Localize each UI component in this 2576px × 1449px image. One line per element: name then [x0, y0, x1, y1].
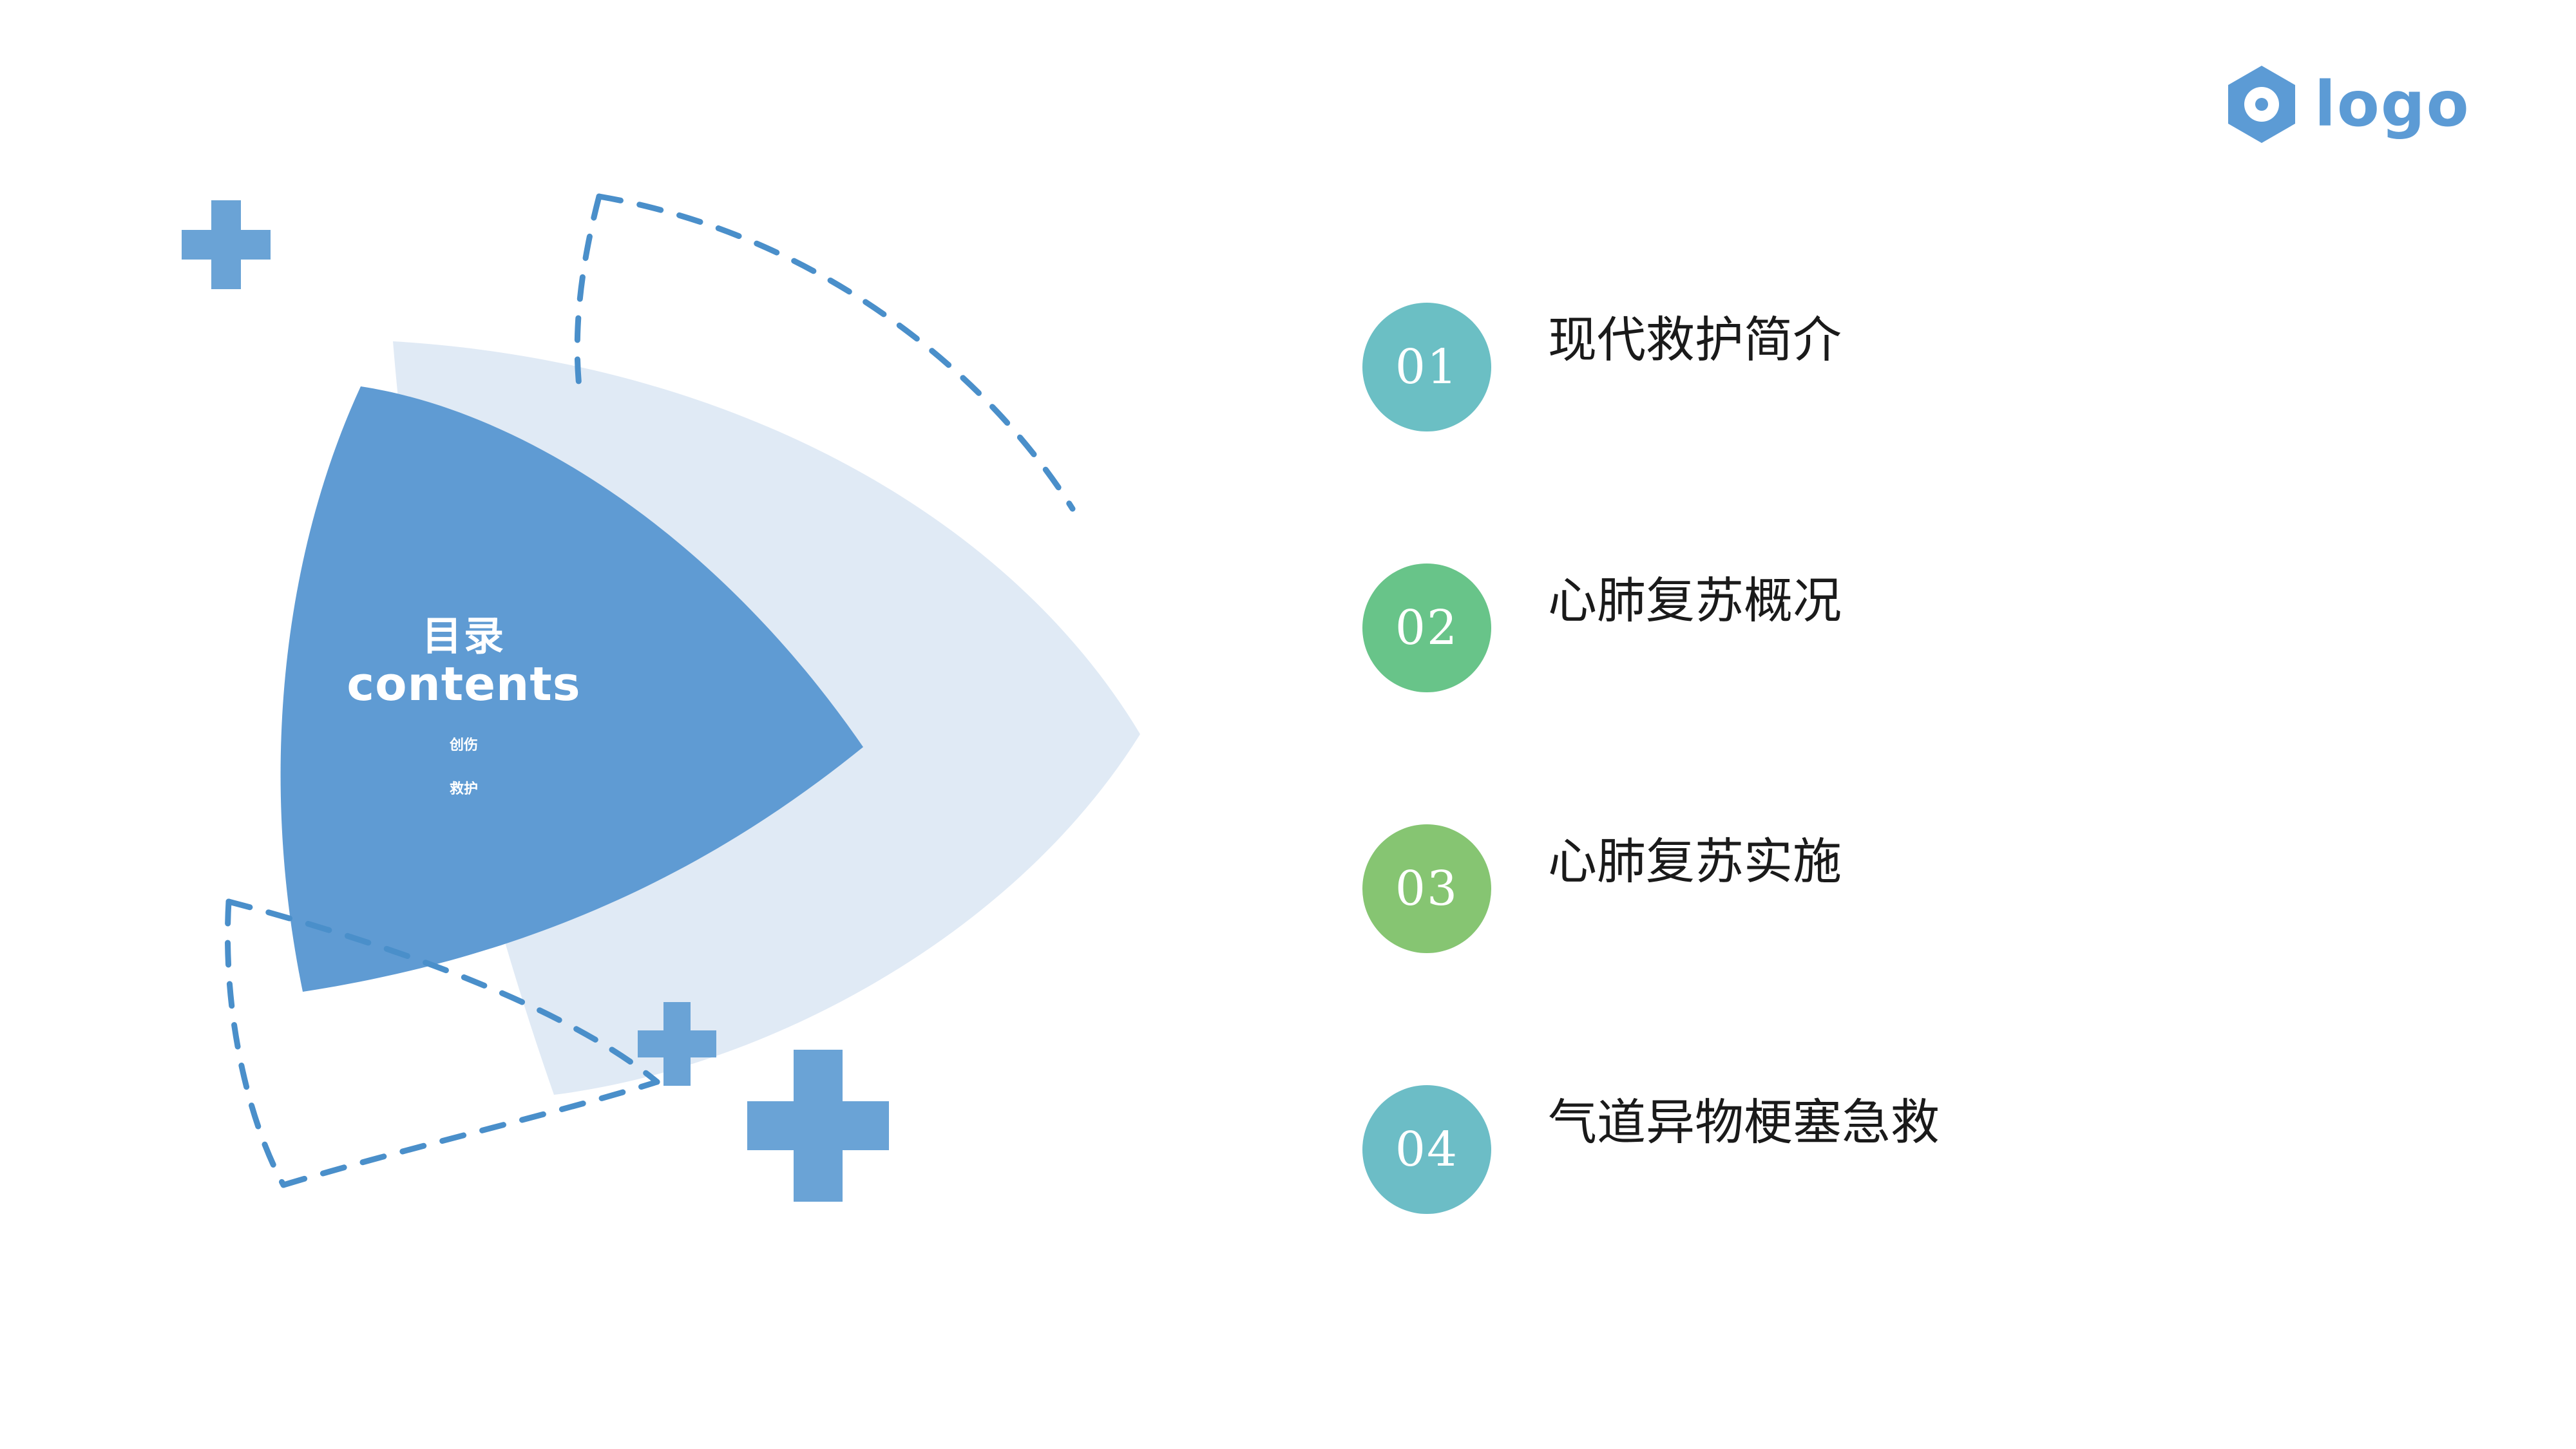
dashed-petal-top-left-edge — [577, 196, 599, 393]
decorative-artwork — [0, 0, 1288, 1449]
agenda-item-04[interactable]: 04 气道异物梗塞急救 — [1362, 1085, 2329, 1346]
agenda-number-02: 02 — [1395, 604, 1458, 652]
agenda-title-02: 心肺复苏概况 — [1548, 576, 1842, 625]
agenda-badge-04: 04 — [1362, 1085, 1491, 1214]
agenda-title-04: 气道异物梗塞急救 — [1548, 1098, 1940, 1147]
slide-canvas: 目录 contents 创伤 救护 logo 01 现代救护简介 02 心肺复苏… — [0, 0, 2576, 1449]
agenda-list: 01 现代救护简介 02 心肺复苏概况 03 心肺复苏实施 04 气道异物梗塞急… — [1362, 303, 2329, 1346]
agenda-number-04: 04 — [1395, 1126, 1458, 1173]
agenda-title-03: 心肺复苏实施 — [1548, 837, 1842, 886]
agenda-title-01: 现代救护简介 — [1548, 316, 1842, 365]
agenda-number-03: 03 — [1395, 865, 1458, 913]
agenda-item-02[interactable]: 02 心肺复苏概况 — [1362, 563, 2329, 824]
agenda-item-01[interactable]: 01 现代救护简介 — [1362, 303, 2329, 563]
dashed-petal-bottom-bottom-edge — [283, 1082, 657, 1185]
logo-text: logo — [2314, 73, 2470, 135]
agenda-item-03[interactable]: 03 心肺复苏实施 — [1362, 824, 2329, 1085]
dashed-petal-bottom-left-edge — [227, 902, 283, 1185]
cross-bottom-large-icon — [747, 1050, 889, 1202]
logo: logo — [2226, 64, 2470, 144]
agenda-badge-03: 03 — [1362, 824, 1491, 953]
agenda-number-01: 01 — [1395, 343, 1458, 391]
agenda-badge-02: 02 — [1362, 563, 1491, 692]
cross-top-left-icon — [182, 200, 271, 289]
agenda-badge-01: 01 — [1362, 303, 1491, 431]
hexagon-ring-icon — [2226, 64, 2298, 144]
